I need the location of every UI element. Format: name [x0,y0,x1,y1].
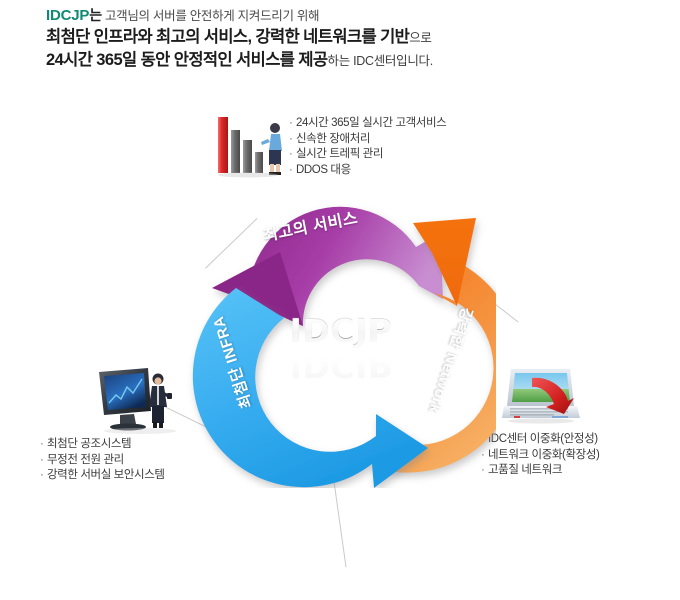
list-item: ·DDOS 대응 [289,163,446,179]
list-item-label: IDC센터 이중화(안정성) [488,433,598,445]
list-item-label: 최첨단 공조시스템 [47,438,131,450]
presenter-figure [261,123,282,175]
bullet-marker: · [289,147,296,163]
bullet-marker: · [40,453,47,469]
list-item: ·무정전 전원 관리 [40,453,165,469]
list-item-label: 네트워크 이중화(확장성) [488,449,599,461]
bullet-marker: · [289,132,296,148]
header-line-2-main: 최첨단 인프라와 최고의 서비스, 강력한 네트워크를 기반 [46,28,409,46]
header-line-2: 최첨단 인프라와 최고의 서비스, 강력한 네트워크를 기반으로 [46,26,646,49]
list-item: ·IDC센터 이중화(안정성) [481,432,599,448]
list-item: ·네트워크 이중화(확장성) [481,448,599,464]
callout-service-list: ·24시간 365일 실시간 고객서비스 ·신속한 장애처리 ·실시간 트레픽 … [289,116,446,178]
header-line-3-tail: 하는 IDC센터입니다. [328,54,433,68]
list-item: ·24시간 365일 실시간 고객서비스 [289,116,446,132]
list-item-label: 고품질 네트워크 [488,464,562,476]
list-item-label: DDOS 대응 [296,164,351,176]
list-item-label: 실시간 트레픽 관리 [296,148,383,160]
leader-line-bottom [333,478,347,567]
list-item: ·고품질 네트워크 [481,463,599,479]
bullet-marker: · [40,437,47,453]
list-item-label: 24시간 365일 실시간 고객서비스 [296,117,446,129]
list-item-label: 무정전 전원 관리 [47,454,124,466]
callout-infra-list: ·최첨단 공조시스템 ·무정전 전원 관리 ·강력한 서버실 보안시스템 [40,437,165,484]
desktop-monitor-businessman-icon [96,366,182,436]
callout-network-list: ·IDC센터 이중화(안정성) ·네트워크 이중화(확장성) ·고품질 네트워크 [481,432,599,479]
bullet-marker: · [289,116,296,132]
arc-infra [193,288,428,488]
laptop-red-arrow-icon [502,366,580,428]
list-item: ·최첨단 공조시스템 [40,437,165,453]
header-copy: IDCJP는 고객님의 서버를 안전하게 지켜드리기 위해 최첨단 인프라와 최… [46,6,646,72]
header-line-3: 24시간 365일 동안 안정적인 서비스를 제공하는 IDC센터입니다. [46,49,646,72]
brand-name: IDCJP [46,7,89,24]
bar-chart-presenter-icon [216,112,288,178]
businessman-figure [149,374,172,429]
list-item-label: 강력한 서버실 보안시스템 [47,469,165,481]
bullet-marker: · [40,468,47,484]
list-item-label: 신속한 장애처리 [296,133,370,145]
header-line-1: IDCJP는 고객님의 서버를 안전하게 지켜드리기 위해 [46,6,646,26]
header-line-1-rest: 고객님의 서버를 안전하게 지켜드리기 위해 [102,9,319,23]
list-item: ·실시간 트레픽 관리 [289,147,446,163]
bullet-marker: · [289,163,296,179]
list-item: ·신속한 장애처리 [289,132,446,148]
list-item: ·강력한 서버실 보안시스템 [40,468,165,484]
brand-suffix: 는 [89,7,102,23]
header-line-3-main: 24시간 365일 동안 안정적인 서비스를 제공 [46,51,328,69]
cycle-diagram [176,196,496,488]
header-line-2-tail: 으로 [409,31,431,45]
